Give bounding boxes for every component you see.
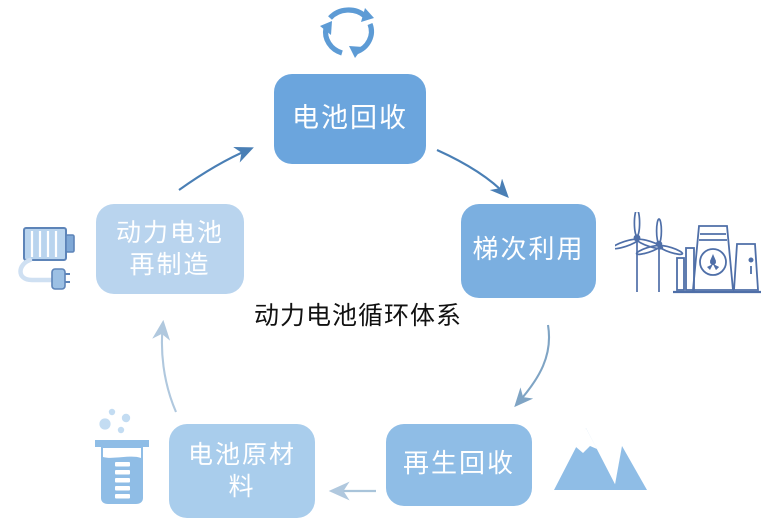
arrow-remanufacture-to-recycle <box>179 149 250 190</box>
node-cascade-utilization[interactable]: 梯次利用 <box>461 204 596 298</box>
arrow-cascade-to-regen <box>517 325 549 404</box>
node-battery-recycling[interactable]: 电池回收 <box>274 74 426 164</box>
node-regenerative-recycling-label: 再生回收 <box>386 448 532 481</box>
node-power-battery-remanufacturing-line2: 再制造 <box>129 250 210 279</box>
diagram-center-title: 动力电池循环体系 <box>243 296 473 332</box>
diagram-canvas: 电池回收 梯次利用 再生回收 电池原材料 动力电池再制造 动力电池循环体系 <box>0 0 761 532</box>
arrow-recycle-to-cascade <box>437 150 506 195</box>
beaker-icon <box>85 400 159 508</box>
arrow-material-to-remanufacture <box>162 323 176 412</box>
node-battery-raw-material-line2: 料 <box>228 472 255 501</box>
node-battery-raw-material-label: 电池原材料 <box>169 439 315 503</box>
node-battery-raw-material[interactable]: 电池原材料 <box>169 424 315 518</box>
node-regenerative-recycling[interactable]: 再生回收 <box>386 424 532 506</box>
battery-charger-icon <box>8 222 86 294</box>
node-cascade-utilization-label: 梯次利用 <box>461 234 596 267</box>
recycle-cycle-icon <box>308 2 388 64</box>
mountain-icon <box>552 424 650 496</box>
node-power-battery-remanufacturing-label: 动力电池再制造 <box>96 217 244 281</box>
wind-turbine-power-plant-icon <box>615 212 761 298</box>
node-battery-raw-material-line1: 电池原材 <box>188 440 296 469</box>
node-power-battery-remanufacturing[interactable]: 动力电池再制造 <box>96 204 244 294</box>
node-battery-recycling-label: 电池回收 <box>274 102 426 137</box>
node-power-battery-remanufacturing-line1: 动力电池 <box>116 218 224 247</box>
